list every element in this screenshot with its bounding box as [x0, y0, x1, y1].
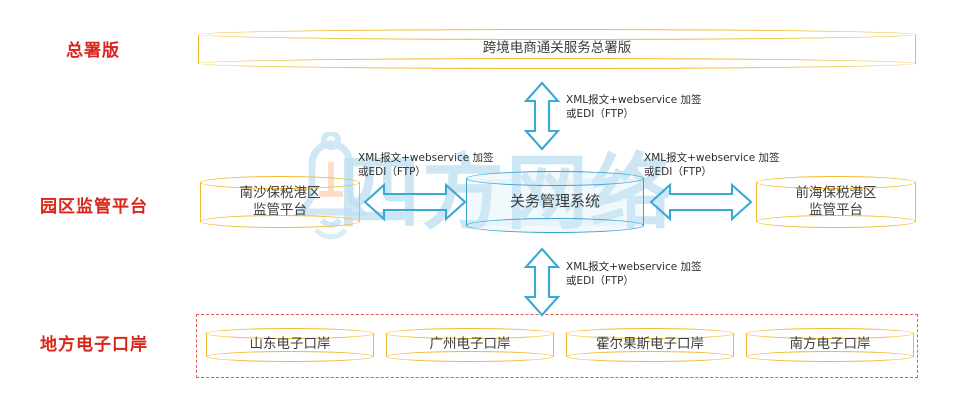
double-headed-vertical-arrow-icon: [524, 82, 560, 150]
row-label-headquarters: 总署版: [66, 36, 120, 61]
double-headed-vertical-arrow-icon: [524, 248, 560, 316]
caption-left-center: XML报文+webservice 加签 或EDI（FTP）: [358, 151, 568, 179]
node-label: 南沙保税港区 监管平台: [200, 176, 360, 228]
node-port-guangzhou[interactable]: 广州电子口岸: [386, 328, 554, 362]
row-label-local-eport: 地方电子口岸: [40, 330, 148, 355]
row-label-park-platform: 园区监管平台: [40, 192, 148, 217]
node-label: 南方电子口岸: [746, 328, 914, 362]
node-label: 广州电子口岸: [386, 328, 554, 362]
node-label: 山东电子口岸: [206, 328, 374, 362]
node-nansha-platform[interactable]: 南沙保税港区 监管平台: [200, 176, 360, 228]
caption-center-right: XML报文+webservice 加签 或EDI（FTP）: [644, 151, 854, 179]
node-qianhai-platform[interactable]: 前海保税港区 监管平台: [756, 176, 916, 228]
arrow-left-center: [364, 183, 466, 221]
diagram-canvas: 四方网络 总署版 园区监管平台 地方电子口岸 跨境电商通关服务总署版 XML报文…: [0, 0, 958, 411]
node-label: 跨境电商通关服务总署版: [198, 29, 916, 69]
node-customs-management-system[interactable]: 关务管理系统: [466, 171, 644, 233]
node-port-south[interactable]: 南方电子口岸: [746, 328, 914, 362]
double-headed-horizontal-arrow-icon: [364, 183, 466, 221]
node-port-khorgos[interactable]: 霍尔果斯电子口岸: [566, 328, 734, 362]
arrow-top-center: [524, 82, 560, 150]
caption-center-bottom: XML报文+webservice 加签 或EDI（FTP）: [566, 260, 766, 288]
node-label: 霍尔果斯电子口岸: [566, 328, 734, 362]
arrow-center-right: [650, 183, 752, 221]
node-label: 前海保税港区 监管平台: [756, 176, 916, 228]
node-label: 关务管理系统: [466, 171, 644, 233]
node-headquarters-platform[interactable]: 跨境电商通关服务总署版: [198, 29, 916, 69]
double-headed-horizontal-arrow-icon: [650, 183, 752, 221]
arrow-center-bottom: [524, 248, 560, 316]
caption-top-center: XML报文+webservice 加签 或EDI（FTP）: [566, 93, 766, 121]
node-port-shandong[interactable]: 山东电子口岸: [206, 328, 374, 362]
